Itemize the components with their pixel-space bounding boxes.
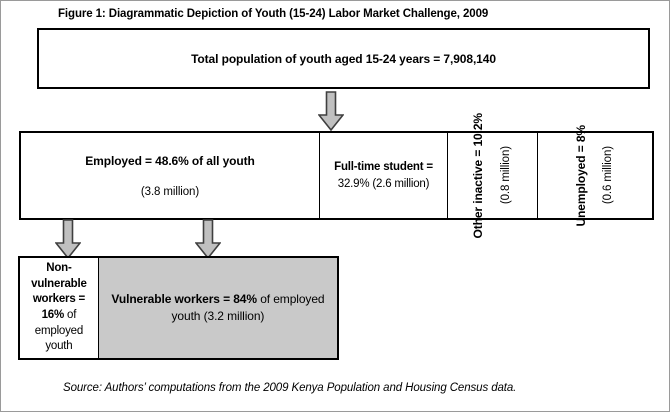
employed-count-label: (3.8 million) [141, 186, 199, 198]
vulnerable-percent-label: Vulnerable workers = 84% [111, 292, 257, 306]
cell-employed: Employed = 48.6% of all youth (3.8 milli… [21, 133, 319, 218]
unemployed-percent-label: Unemployed = 8% [574, 125, 588, 227]
unemployed-vertical-group: Unemployed = 8% (0.6 million) [538, 133, 652, 218]
cell-other-inactive: Other inactive = 10.2% (0.8 million) [447, 133, 537, 218]
student-values-label: 32.9% (2.6 million) [338, 178, 429, 190]
total-population-label: Total population of youth aged 15-24 yea… [191, 52, 496, 66]
down-arrow-icon-total-to-status [318, 91, 344, 131]
cell-non-vulnerable-workers: Non-vulnerable workers = 16% of employed… [20, 258, 98, 358]
vulnerable-text: Vulnerable workers = 84% of employed you… [107, 291, 329, 326]
non-vulnerable-percent-label: Non-vulnerable workers = 16% [31, 262, 87, 321]
figure-title: Figure 1: Diagrammatic Depiction of Yout… [58, 8, 488, 20]
unemployed-count-label: (0.6 million) [602, 146, 616, 204]
non-vulnerable-text: Non-vulnerable workers = 16% of employed… [23, 261, 95, 354]
cell-unemployed: Unemployed = 8% (0.6 million) [537, 133, 652, 218]
other-inactive-percent-label: Other inactive = 10.2% [471, 113, 485, 239]
down-arrow-icon-employed-to-vulnerable [195, 219, 221, 259]
employed-percent-label: Employed = 48.6% of all youth [85, 154, 254, 168]
cell-full-time-student: Full-time student = 32.9% (2.6 million) [319, 133, 447, 218]
down-arrow-icon-employed-to-non-vulnerable [55, 219, 81, 259]
figure-container: Figure 1: Diagrammatic Depiction of Yout… [0, 0, 670, 412]
other-inactive-count-label: (0.8 million) [500, 146, 514, 204]
student-bold-label: Full-time student = [334, 161, 433, 173]
vulnerability-row: Non-vulnerable workers = 16% of employed… [18, 256, 339, 360]
total-population-box: Total population of youth aged 15-24 yea… [37, 28, 650, 89]
source-note: Source: Authors’ computations from the 2… [63, 382, 516, 394]
cell-vulnerable-workers: Vulnerable workers = 84% of employed you… [98, 258, 337, 358]
other-inactive-vertical-group: Other inactive = 10.2% (0.8 million) [448, 133, 537, 218]
student-text: Full-time student = 32.9% (2.6 million) [326, 159, 441, 192]
labor-status-row: Employed = 48.6% of all youth (3.8 milli… [19, 131, 654, 220]
